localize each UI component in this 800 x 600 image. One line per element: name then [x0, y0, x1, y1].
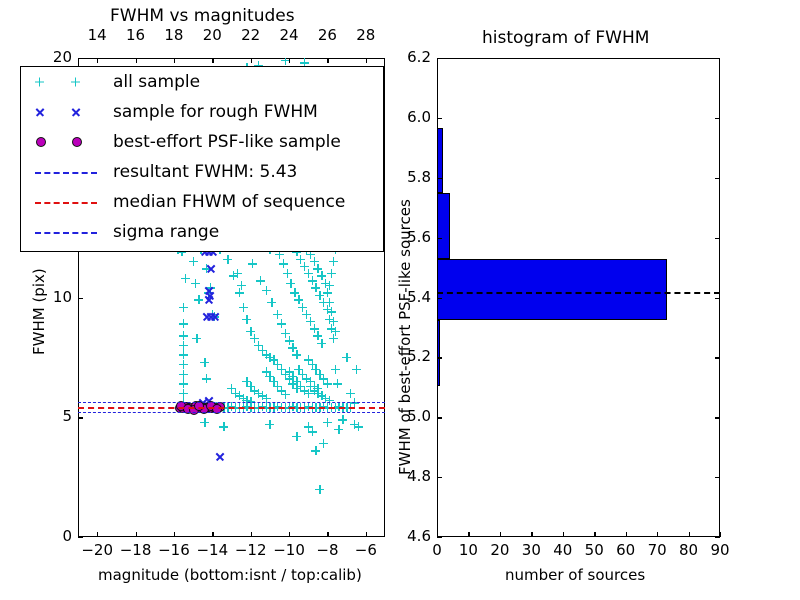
left-xtick-bottom — [366, 532, 367, 537]
right-plot-area — [437, 58, 720, 537]
scatter-point-rough-fwhm — [204, 295, 213, 304]
legend-item-label: all sample — [113, 72, 200, 92]
scatter-point-rough-fwhm — [210, 312, 219, 321]
left-ytick-label: 0 — [42, 527, 72, 545]
plus-icon — [71, 78, 80, 87]
scatter-point-all-sample — [179, 350, 188, 359]
left-yaxis-title: FWHM (pix) — [30, 268, 48, 355]
scatter-point-all-sample — [191, 279, 200, 288]
right-ytick-mirror — [715, 238, 720, 239]
scatter-point-all-sample — [281, 390, 290, 399]
right-xtick — [594, 532, 595, 537]
figure-canvas: FWHM vs magnitudes−20−18−16−14−12−10−8−6… — [0, 0, 800, 600]
legend-item-label: sample for rough FWHM — [113, 102, 318, 122]
right-ytick — [437, 178, 442, 179]
right-xtick — [563, 532, 564, 537]
left-xtick-top — [212, 58, 213, 63]
scatter-point-all-sample — [179, 303, 188, 312]
scatter-point-all-sample — [354, 422, 363, 431]
left-xtick-label-bottom: −8 — [311, 541, 343, 559]
right-ytick-mirror — [715, 537, 720, 538]
legend-symbol-cross-marker — [21, 97, 113, 127]
right-ytick-mirror — [715, 417, 720, 418]
dashed-line-icon — [35, 202, 97, 204]
dot-icon — [36, 137, 46, 147]
scatter-point-all-sample — [311, 446, 320, 455]
median-fwhm-line — [78, 407, 385, 409]
left-xtick-label-top: 14 — [83, 26, 111, 44]
right-xtick-label: 80 — [675, 541, 703, 559]
scatter-point-all-sample — [325, 298, 334, 307]
right-ytick-label: 4.6 — [395, 527, 431, 545]
scatter-point-all-sample — [279, 259, 288, 268]
right-ytick-label: 6.0 — [395, 108, 431, 126]
scatter-point-all-sample — [292, 432, 301, 441]
right-xtick-label: 30 — [517, 541, 545, 559]
scatter-point-all-sample — [346, 389, 355, 398]
left-ytick-label: 20 — [42, 48, 72, 66]
left-xtick-top — [251, 58, 252, 63]
scatter-point-all-sample — [237, 281, 246, 290]
legend-item[interactable]: resultant FWHM: 5.43 — [21, 157, 383, 187]
right-ytick — [437, 58, 442, 59]
left-xtick-top — [136, 58, 137, 63]
right-xtick — [626, 532, 627, 537]
scatter-point-all-sample — [334, 425, 343, 434]
right-xtick-label: 40 — [549, 541, 577, 559]
right-xtick-label: 60 — [612, 541, 640, 559]
legend-symbol-dashed-line — [21, 187, 113, 217]
scatter-point-all-sample — [338, 415, 347, 424]
scatter-point-all-sample — [181, 274, 190, 283]
scatter-point-all-sample — [179, 331, 188, 340]
legend-symbol-dashed-line — [21, 157, 113, 187]
scatter-point-all-sample — [223, 255, 232, 264]
scatter-point-all-sample — [329, 317, 338, 326]
left-xtick-top — [289, 58, 290, 63]
scatter-point-all-sample — [179, 389, 188, 398]
scatter-point-all-sample — [248, 259, 257, 268]
right-xtick-label: 10 — [454, 541, 482, 559]
scatter-point-all-sample — [325, 396, 334, 405]
scatter-point-all-sample — [292, 350, 301, 359]
scatter-point-rough-fwhm — [206, 264, 215, 273]
legend-box: all samplesample for rough FWHMbest-effo… — [20, 66, 384, 252]
scatter-point-all-sample — [277, 319, 286, 328]
scatter-point-all-sample — [283, 269, 292, 278]
scatter-point-all-sample — [342, 353, 351, 362]
right-xtick-label: 90 — [706, 541, 734, 559]
scatter-point-all-sample — [331, 365, 340, 374]
scatter-point-all-sample — [319, 439, 328, 448]
scatter-point-all-sample — [329, 257, 338, 266]
scatter-point-all-sample — [189, 257, 198, 266]
right-ytick-mirror — [715, 58, 720, 59]
left-xtick-label-bottom: −10 — [273, 541, 305, 559]
left-xtick-label-top: 24 — [275, 26, 303, 44]
right-ytick — [437, 477, 442, 478]
left-xtick-bottom — [289, 532, 290, 537]
left-xtick-bottom — [251, 532, 252, 537]
scatter-point-all-sample — [273, 310, 282, 319]
scatter-point-all-sample — [352, 365, 361, 374]
scatter-point-all-sample — [267, 298, 276, 307]
right-panel-title: histogram of FWHM — [482, 28, 649, 48]
right-xtick — [468, 532, 469, 537]
scatter-point-all-sample — [179, 370, 188, 379]
right-ytick — [437, 537, 442, 538]
scatter-point-all-sample — [315, 485, 324, 494]
scatter-point-all-sample — [242, 315, 251, 324]
scatter-point-all-sample — [194, 295, 203, 304]
scatter-point-all-sample — [325, 281, 334, 290]
legend-symbol-plus-marker — [21, 67, 113, 97]
plus-icon — [35, 78, 44, 87]
right-ytick — [437, 238, 442, 239]
right-xtick — [531, 532, 532, 537]
scatter-point-all-sample — [331, 327, 340, 336]
dash-dot-line-icon — [35, 232, 97, 234]
histogram-bar — [437, 128, 443, 192]
legend-symbol-dot-marker — [21, 127, 113, 157]
left-ytick — [78, 417, 83, 418]
left-xtick-label-top: 28 — [352, 26, 380, 44]
sigma-range-upper-line — [78, 402, 385, 403]
right-ytick — [437, 298, 442, 299]
legend-item-label: resultant FWHM: 5.43 — [113, 162, 297, 182]
left-xtick-bottom — [212, 532, 213, 537]
left-xtick-label-top: 16 — [122, 26, 150, 44]
left-xtick-top — [97, 58, 98, 63]
left-xtick-bottom — [174, 532, 175, 537]
right-ytick-mirror — [715, 118, 720, 119]
left-xtick-label-bottom: −12 — [235, 541, 267, 559]
right-ytick — [437, 417, 442, 418]
right-xtick-label: 50 — [580, 541, 608, 559]
scatter-point-all-sample — [265, 420, 274, 429]
left-xaxis-title: magnitude (bottom:isnt / top:calib) — [98, 566, 362, 584]
histogram-median-line — [437, 292, 720, 294]
right-xtick-label: 70 — [643, 541, 671, 559]
scatter-point-all-sample — [219, 422, 228, 431]
cross-icon — [71, 108, 80, 117]
right-ytick-label: 5.8 — [395, 168, 431, 186]
scatter-point-all-sample — [317, 339, 326, 348]
right-ytick-mirror — [715, 357, 720, 358]
right-xtick-label: 20 — [486, 541, 514, 559]
scatter-point-all-sample — [179, 341, 188, 350]
legend-item[interactable]: all sample — [21, 67, 383, 97]
left-xtick-label-bottom: −14 — [196, 541, 228, 559]
scatter-point-all-sample — [333, 379, 342, 388]
left-ytick — [78, 58, 83, 59]
legend-symbol-dash-dot-line — [21, 217, 113, 247]
sigma-range-lower-line — [78, 412, 385, 413]
scatter-point-all-sample — [323, 379, 332, 388]
left-xtick-label-bottom: −16 — [158, 541, 190, 559]
scatter-point-all-sample — [262, 286, 271, 295]
scatter-point-all-sample — [292, 384, 301, 393]
right-ytick — [437, 118, 442, 119]
scatter-point-all-sample — [192, 334, 201, 343]
scatter-point-all-sample — [327, 307, 336, 316]
scatter-point-all-sample — [239, 303, 248, 312]
right-xaxis-title: number of sources — [505, 566, 645, 584]
scatter-point-all-sample — [200, 418, 209, 427]
legend-item-label: sigma range — [113, 222, 219, 242]
scatter-point-all-sample — [233, 269, 242, 278]
legend-item[interactable]: sigma range — [21, 217, 383, 247]
legend-item[interactable]: best-effort PSF-like sample — [21, 127, 383, 157]
left-ytick — [78, 298, 83, 299]
left-panel-title: FWHM vs magnitudes — [110, 6, 295, 26]
right-xtick — [657, 532, 658, 537]
left-xtick-label-bottom: −20 — [81, 541, 113, 559]
left-xtick-label-top: 20 — [198, 26, 226, 44]
left-xtick-label-top: 22 — [237, 26, 265, 44]
left-xtick-bottom — [97, 532, 98, 537]
right-ytick-mirror — [715, 477, 720, 478]
histogram-bar — [437, 259, 667, 320]
histogram-bar — [437, 193, 450, 259]
dashed-line-icon — [35, 172, 97, 174]
legend-item[interactable]: median FHWM of sequence — [21, 187, 383, 217]
scatter-point-rough-fwhm — [215, 452, 224, 461]
left-xtick-label-top: 26 — [313, 26, 341, 44]
right-yaxis-title: FWHM of best-effort PSF-like sources — [396, 199, 414, 475]
scatter-point-all-sample — [256, 276, 265, 285]
scatter-point-all-sample — [327, 269, 336, 278]
right-ytick — [437, 357, 442, 358]
scatter-point-all-sample — [304, 389, 313, 398]
histogram-bar — [437, 320, 440, 386]
left-ytick-label: 5 — [42, 407, 72, 425]
left-xtick-top — [174, 58, 175, 63]
legend-item-label: best-effort PSF-like sample — [113, 132, 341, 152]
left-xtick-label-bottom: −18 — [120, 541, 152, 559]
scatter-point-all-sample — [179, 319, 188, 328]
legend-item-label: median FHWM of sequence — [113, 192, 345, 212]
right-ytick-mirror — [715, 298, 720, 299]
scatter-point-all-sample — [179, 379, 188, 388]
scatter-point-all-sample — [200, 358, 209, 367]
cross-icon — [35, 108, 44, 117]
left-xtick-bottom — [136, 532, 137, 537]
left-xtick-label-top: 18 — [160, 26, 188, 44]
right-xtick — [689, 532, 690, 537]
scatter-point-all-sample — [179, 360, 188, 369]
legend-item[interactable]: sample for rough FWHM — [21, 97, 383, 127]
right-ytick-label: 6.2 — [395, 48, 431, 66]
left-xtick-top — [366, 58, 367, 63]
scatter-point-all-sample — [202, 374, 211, 383]
right-ytick-mirror — [715, 178, 720, 179]
scatter-point-all-sample — [286, 279, 295, 288]
scatter-point-all-sample — [308, 427, 317, 436]
right-xtick — [500, 532, 501, 537]
scatter-point-all-sample — [323, 418, 332, 427]
right-xtick — [720, 532, 721, 537]
left-xtick-top — [327, 58, 328, 63]
scatter-point-all-sample — [313, 384, 322, 393]
left-ytick — [78, 537, 83, 538]
left-xtick-bottom — [327, 532, 328, 537]
dot-icon — [72, 137, 82, 147]
left-xtick-label-bottom: −6 — [350, 541, 382, 559]
